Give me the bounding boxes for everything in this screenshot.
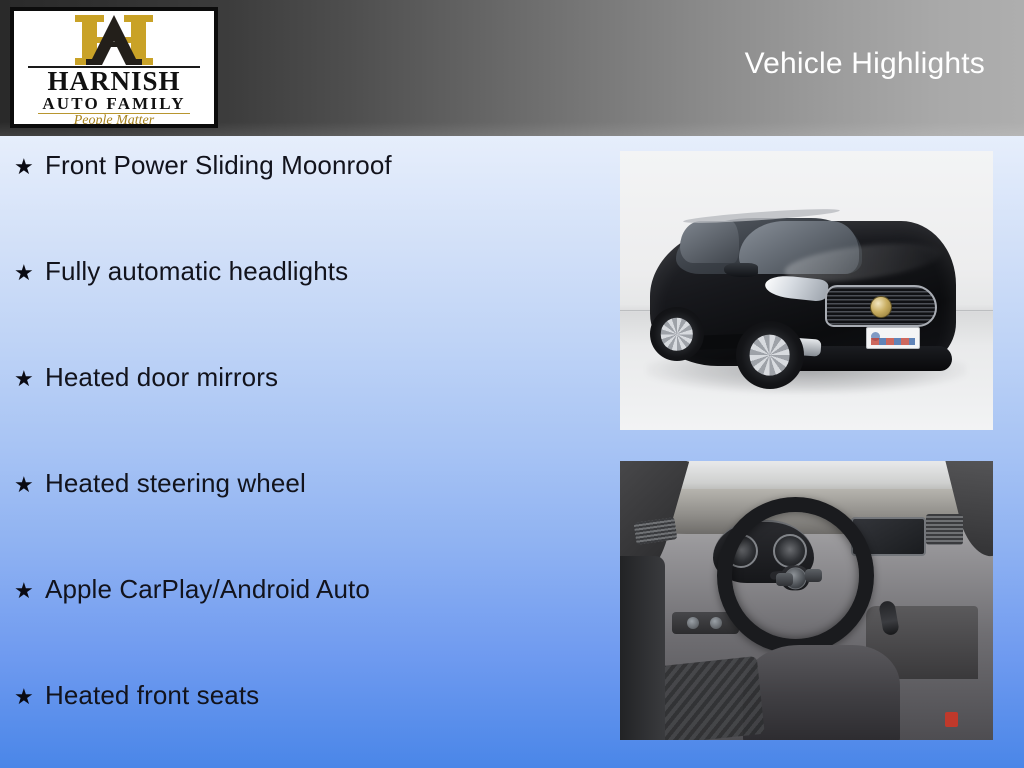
list-item: ★ Heated steering wheel bbox=[14, 470, 594, 576]
star-bullet-icon: ★ bbox=[14, 368, 45, 390]
vehicle-exterior-photo[interactable] bbox=[620, 151, 993, 430]
vehicle-side-mirror bbox=[724, 263, 758, 277]
vehicle-interior-photo[interactable] bbox=[620, 461, 993, 740]
vehicle-highlights-list: ★ Front Power Sliding Moonroof ★ Fully a… bbox=[14, 152, 594, 768]
list-item: ★ Front Power Sliding Moonroof bbox=[14, 152, 594, 258]
logo-name-primary: HARNISH bbox=[14, 68, 214, 95]
logo-tagline: People Matter bbox=[14, 114, 214, 128]
front-seat bbox=[743, 645, 900, 740]
list-item: ★ Heated front seats bbox=[14, 682, 594, 768]
buick-emblem-icon bbox=[870, 296, 892, 318]
highlight-label: Heated door mirrors bbox=[45, 364, 594, 390]
list-item: ★ Apple CarPlay/Android Auto bbox=[14, 576, 594, 682]
dealer-license-plate bbox=[866, 327, 920, 349]
seatbelt-buckle-icon bbox=[945, 712, 958, 727]
star-bullet-icon: ★ bbox=[14, 156, 45, 178]
list-item: ★ Heated door mirrors bbox=[14, 364, 594, 470]
highlight-label: Fully automatic headlights bbox=[45, 258, 594, 284]
highlight-label: Heated steering wheel bbox=[45, 470, 594, 496]
highlight-label: Front Power Sliding Moonroof bbox=[45, 152, 594, 178]
slide: Vehicle Highlights HARNISH AUTO FAMILY bbox=[0, 0, 1024, 768]
star-bullet-icon: ★ bbox=[14, 474, 45, 496]
interior-air-vent-right bbox=[926, 514, 963, 545]
dealer-logo[interactable]: HARNISH AUTO FAMILY People Matter bbox=[10, 7, 218, 128]
star-bullet-icon: ★ bbox=[14, 580, 45, 602]
logo-name-secondary: AUTO FAMILY bbox=[14, 95, 214, 112]
vehicle-front-wheel bbox=[736, 321, 804, 389]
star-bullet-icon: ★ bbox=[14, 686, 45, 708]
list-item: ★ Fully automatic headlights bbox=[14, 258, 594, 364]
steering-wheel bbox=[717, 497, 874, 653]
highlight-label: Heated front seats bbox=[45, 682, 594, 708]
vehicle-side-window bbox=[680, 221, 740, 263]
harnish-monogram-icon bbox=[66, 15, 162, 65]
logo-inner: HARNISH AUTO FAMILY People Matter bbox=[14, 11, 214, 124]
star-bullet-icon: ★ bbox=[14, 262, 45, 284]
vehicle-rear-wheel bbox=[650, 307, 704, 361]
highlight-label: Apple CarPlay/Android Auto bbox=[45, 576, 594, 602]
page-title: Vehicle Highlights bbox=[745, 49, 985, 79]
door-panel bbox=[620, 556, 665, 740]
